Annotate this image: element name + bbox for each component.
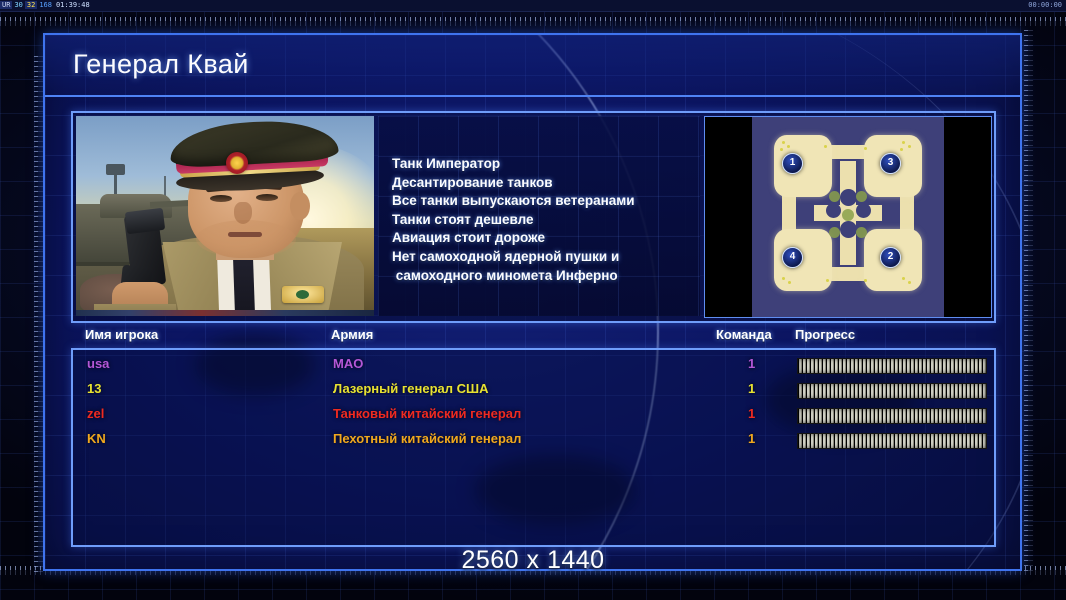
player-team: 1	[748, 406, 755, 421]
description-line: Десантирование танков	[392, 174, 692, 193]
table-row[interactable]: usa MAO 1	[73, 356, 990, 381]
column-header-name: Имя игрока	[85, 327, 158, 342]
description-line: Танки стоят дешевле	[392, 211, 692, 230]
table-row[interactable]: KN Пехотный китайский генерал 1	[73, 431, 990, 456]
general-description-pane: Танк Император Десантирование танков Все…	[378, 116, 700, 316]
portrait-badge-icon	[282, 286, 324, 303]
players-table: usa MAO 1 13 Лазерный генерал США 1 zel …	[71, 348, 996, 547]
player-name: 13	[87, 381, 101, 396]
player-team: 1	[748, 356, 755, 371]
os-value-a: 30	[12, 1, 24, 9]
player-progress-bar	[797, 408, 987, 424]
players-table-header: Имя игрока Армия Команда Прогресс	[71, 327, 992, 349]
player-name: KN	[87, 431, 106, 446]
portrait-nose	[234, 202, 252, 224]
os-label: UR	[0, 1, 12, 9]
map-water	[826, 203, 841, 218]
general-info-window: Генерал Квай	[43, 33, 1022, 571]
map-spawn-marker: 4	[782, 247, 803, 268]
portrait-eye-left	[210, 195, 232, 202]
map-preview-image: 1 3 4 2	[752, 117, 944, 317]
column-header-progress: Прогресс	[795, 327, 855, 342]
portrait-bottom-strip	[76, 310, 374, 316]
map-preview-panel[interactable]: 1 3 4 2	[704, 116, 992, 318]
column-header-team: Команда	[716, 327, 772, 342]
general-detail-frame: Танк Император Десантирование танков Все…	[71, 111, 996, 323]
player-team: 1	[748, 431, 755, 446]
portrait-pole-top	[106, 164, 125, 175]
portrait-eye-right	[256, 194, 278, 201]
os-value-c: 168	[37, 1, 54, 9]
portrait-cap-emblem-icon	[226, 152, 248, 174]
description-line: Нет самоходной ядерной пушки и	[392, 248, 692, 267]
player-name: zel	[87, 406, 104, 421]
portrait-jowl	[196, 220, 296, 258]
description-list: Танк Император Десантирование танков Все…	[392, 155, 692, 285]
description-line: Танк Император	[392, 155, 692, 174]
map-spawn-marker: 2	[880, 247, 901, 268]
player-name: usa	[87, 356, 109, 371]
description-line: Авиация стоит дороже	[392, 229, 692, 248]
map-water	[856, 203, 871, 218]
map-trees	[856, 227, 867, 238]
player-team: 1	[748, 381, 755, 396]
resolution-overlay: 2560 x 1440	[0, 546, 1066, 575]
map-trees	[829, 191, 840, 202]
player-army: Танковый китайский генерал	[333, 406, 521, 421]
player-progress-bar	[797, 433, 987, 449]
player-progress-bar	[797, 358, 987, 374]
page-title: Генерал Квай	[73, 49, 249, 80]
window-title-bar: Генерал Квай	[45, 35, 1020, 97]
description-line: Все танки выпускаются ветеранами	[392, 192, 692, 211]
map-spawn-marker: 1	[782, 153, 803, 174]
os-clock: 01:39:48	[54, 1, 92, 9]
description-line: самоходного миномета Инферно	[392, 267, 692, 286]
map-spawn-marker: 3	[880, 153, 901, 174]
os-timer: 00:00:00	[1028, 0, 1062, 11]
player-army: Пехотный китайский генерал	[333, 431, 521, 446]
map-trees	[829, 227, 840, 238]
player-progress-bar	[797, 383, 987, 399]
map-water	[840, 221, 857, 238]
general-portrait	[76, 116, 374, 316]
map-trees	[842, 209, 854, 221]
table-row[interactable]: 13 Лазерный генерал США 1	[73, 381, 990, 406]
table-row[interactable]: zel Танковый китайский генерал 1	[73, 406, 990, 431]
os-value-b: 32	[25, 1, 37, 9]
portrait-pistol-slide	[125, 208, 165, 234]
portrait-mouth	[228, 232, 262, 237]
portrait-ear	[290, 192, 310, 220]
map-water	[840, 189, 857, 206]
player-army: MAO	[333, 356, 363, 371]
os-status-bar: UR303216801:39:48 00:00:00	[0, 0, 1066, 12]
map-trees	[856, 191, 867, 202]
column-header-army: Армия	[331, 327, 373, 342]
player-army: Лазерный генерал США	[333, 381, 488, 396]
